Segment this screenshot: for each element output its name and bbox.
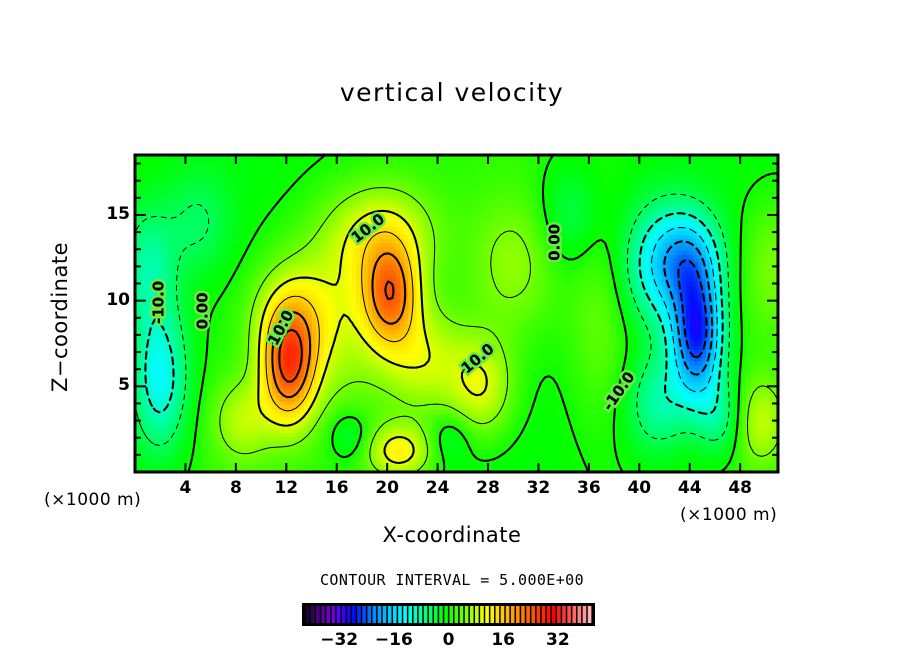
colorbar-tick-label: −32	[316, 630, 362, 650]
colorbar-tick-label: 16	[480, 630, 526, 650]
x-tick-label: 36	[569, 478, 609, 498]
x-tick-label: 48	[720, 478, 760, 498]
x-unit-right: (×1000 m)	[680, 505, 777, 525]
x-tick-label: 24	[418, 478, 458, 498]
colorbar-tick-label: −16	[371, 630, 417, 650]
contour-interval-text: CONTOUR INTERVAL = 5.000E+00	[0, 571, 904, 589]
x-axis-title: X-coordinate	[0, 523, 904, 547]
x-tick-label: 28	[468, 478, 508, 498]
y-tick-label: 5	[96, 375, 130, 395]
x-tick-label: 12	[266, 478, 306, 498]
y-tick-label: 10	[96, 290, 130, 310]
y-tick-label: 15	[96, 204, 130, 224]
x-tick-label: 8	[216, 478, 256, 498]
x-tick-label: 44	[670, 478, 710, 498]
y-axis-title: Z−coordinate	[48, 217, 72, 417]
colorbar	[302, 603, 595, 626]
colorbar-tick-label: 0	[426, 630, 472, 650]
x-tick-label: 40	[619, 478, 659, 498]
x-tick-label: 4	[165, 478, 205, 498]
contour-figure: vertical velocity 10.010.010.010.010.010…	[0, 0, 904, 654]
x-tick-label: 20	[367, 478, 407, 498]
contour-plot: 10.010.010.010.010.010.0-10.0-10.0-10.0-…	[0, 0, 904, 654]
x-tick-label: 32	[518, 478, 558, 498]
x-unit-left: (×1000 m)	[44, 490, 141, 510]
colorbar-tick-label: 32	[535, 630, 581, 650]
x-tick-label: 16	[317, 478, 357, 498]
field-raster	[135, 155, 779, 473]
